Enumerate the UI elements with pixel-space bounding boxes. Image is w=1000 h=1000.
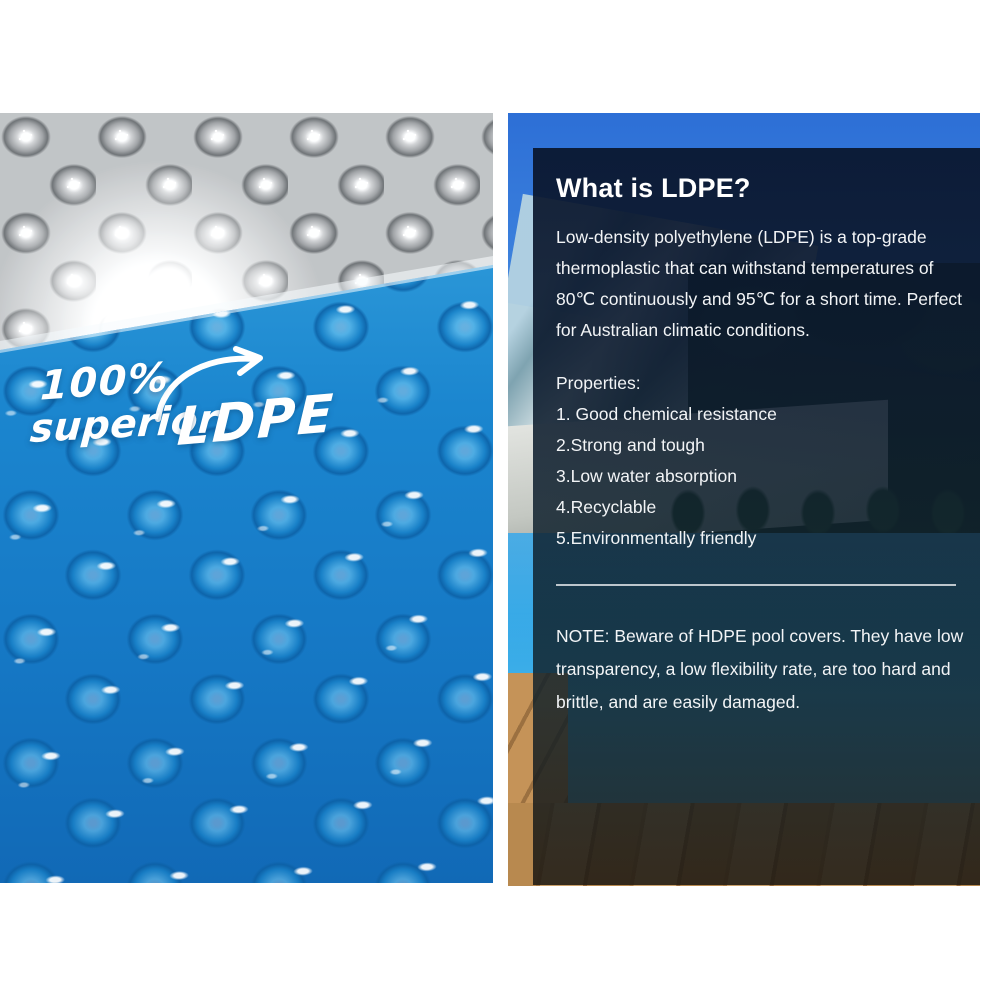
list-item: 1. Good chemical resistance	[556, 399, 966, 430]
page-title: What is LDPE?	[556, 173, 966, 204]
list-item: 2.Strong and tough	[556, 430, 966, 461]
list-item: 5.Environmentally friendly	[556, 523, 966, 554]
properties-list: 1. Good chemical resistance 2.Strong and…	[556, 399, 966, 554]
section-divider	[556, 584, 956, 586]
note-text: NOTE: Beware of HDPE pool covers. They h…	[556, 620, 966, 719]
left-product-image-panel: 100% superior LDPE	[0, 113, 493, 883]
properties-label: Properties:	[556, 368, 966, 399]
intro-paragraph: Low-density polyethylene (LDPE) is a top…	[556, 222, 966, 346]
list-item: 3.Low water absorption	[556, 461, 966, 492]
page-canvas: 100% superior LDPE What is LDPE? Low-den…	[0, 0, 1000, 1000]
right-info-panel: What is LDPE? Low-density polyethylene (…	[508, 113, 980, 886]
list-item: 4.Recyclable	[556, 492, 966, 523]
info-content: What is LDPE? Low-density polyethylene (…	[556, 173, 966, 719]
